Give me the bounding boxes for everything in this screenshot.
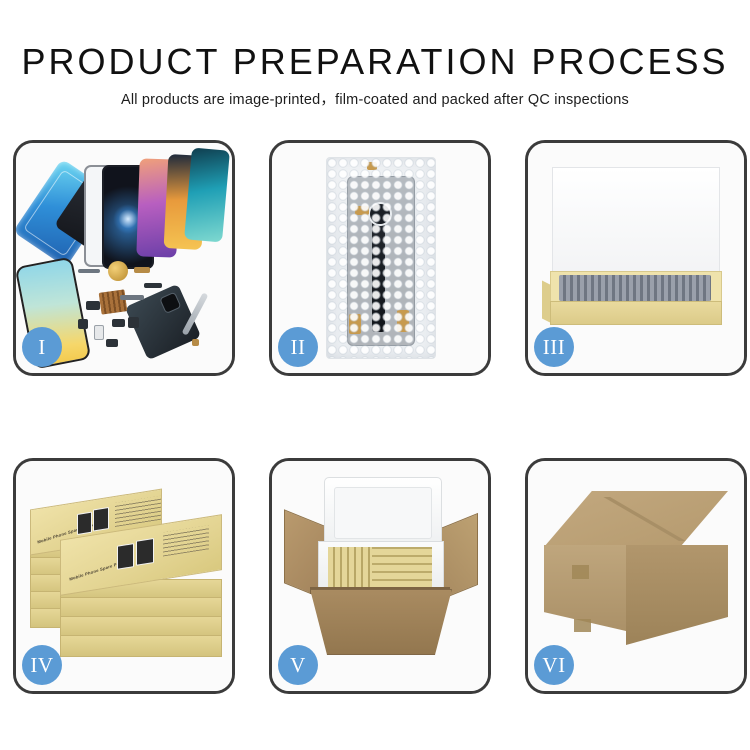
chip-array-graphic: [99, 289, 128, 314]
carton-body: [310, 589, 452, 655]
step-badge-6: VI: [534, 645, 574, 685]
step-panel-2[interactable]: II: [269, 140, 491, 376]
box-edge: [60, 635, 222, 657]
small-part: [112, 319, 125, 327]
small-part: [120, 295, 144, 300]
step-badge-2: II: [278, 327, 318, 367]
box-white-lid: [552, 167, 720, 279]
yellow-boxes-left: [328, 547, 372, 587]
step-panel-5[interactable]: V: [269, 458, 491, 694]
step-badge-3: III: [534, 327, 574, 367]
box-window: [93, 507, 109, 532]
carton-right-face: [626, 545, 728, 645]
box-tray-front: [550, 301, 722, 325]
bubble-texture: [327, 158, 435, 358]
page-subtitle: All products are image-printed，film-coat…: [0, 82, 750, 109]
process-step-grid: I II: [13, 140, 739, 740]
box-stack: Mobile Phone Spare Parts Mobile Phone Sp…: [28, 483, 224, 673]
step-panel-3[interactable]: III: [525, 140, 747, 376]
carton-top-face: [544, 491, 728, 547]
small-part: [78, 269, 100, 273]
small-part: [78, 319, 88, 329]
box-window: [77, 512, 92, 535]
small-part: [106, 339, 118, 347]
small-part: [86, 301, 100, 310]
small-part: [144, 283, 162, 288]
box-window: [117, 543, 134, 570]
product-preparation-infographic: PRODUCT PREPARATION PROCESS All products…: [0, 0, 750, 750]
step-panel-4[interactable]: Mobile Phone Spare Parts Mobile Phone Sp…: [13, 458, 235, 694]
step-badge-1: I: [22, 327, 62, 367]
speaker-module-graphic: [108, 261, 128, 281]
step-panel-1[interactable]: I: [13, 140, 235, 376]
bubble-wrap-bag: [326, 157, 436, 359]
step-panel-6[interactable]: VI: [525, 458, 747, 694]
step-badge-5: V: [278, 645, 318, 685]
box-edge: [60, 616, 222, 637]
yellow-boxes-right: [372, 547, 432, 587]
carton-flap-tab: [574, 619, 591, 632]
small-part: [94, 325, 104, 340]
foam-lid: [324, 477, 442, 549]
small-part: [128, 317, 139, 328]
small-part: [192, 339, 199, 346]
carton-flap-tab: [572, 565, 589, 579]
header: PRODUCT PREPARATION PROCESS All products…: [0, 0, 750, 109]
box-window: [136, 538, 154, 566]
step-badge-4: IV: [22, 645, 62, 685]
box-edge: [60, 597, 222, 618]
small-part: [134, 267, 150, 273]
page-title: PRODUCT PREPARATION PROCESS: [0, 0, 750, 82]
bubble-wrapped-contents: [559, 275, 711, 301]
teal-phone-graphic: [184, 148, 230, 243]
